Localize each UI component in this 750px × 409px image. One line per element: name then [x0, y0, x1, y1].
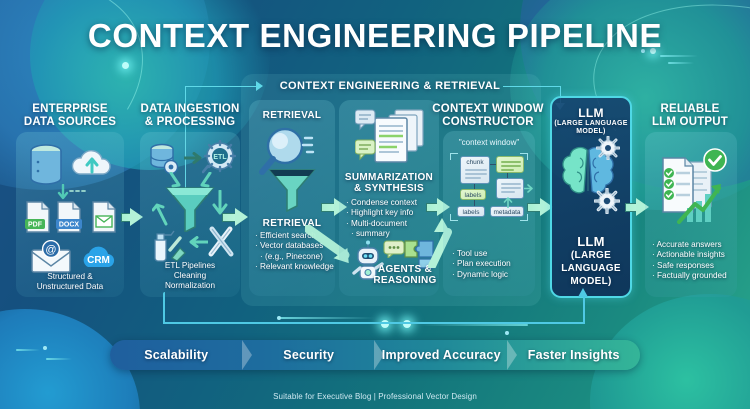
gear-icon: [594, 188, 620, 214]
deco-dot-3: [277, 316, 281, 320]
benefit-scalability[interactable]: Scalability: [110, 340, 243, 370]
connector-chunk-labels: [474, 184, 475, 189]
gear-icon: [596, 136, 620, 160]
sparkle-left: [122, 62, 129, 69]
node-green-summary: [496, 156, 524, 173]
benefit-improved-accuracy[interactable]: Improved Accuracy: [375, 340, 508, 370]
title-llm-top-sub2: MODEL): [552, 128, 630, 135]
bullets-reliable-llm-output: Accurate answers Actionable insights Saf…: [652, 240, 738, 282]
connector-out-arrow: [524, 184, 534, 193]
panel-context-window-constructor: "context window" chunk labels: [443, 131, 535, 296]
note-data-ingestion-processing: ETL Pipelines Cleaning Normalization: [140, 261, 240, 291]
bullets-context-window: Tool use Plan execution Dynamic logic: [452, 249, 538, 280]
header-data-ingestion-processing: DATA INGESTION & PROCESSING: [132, 103, 248, 129]
wrench-screwdriver-icon: [206, 224, 236, 258]
benefit-label: Scalability: [144, 348, 208, 362]
title-llm-inner-4: MODEL): [552, 276, 630, 287]
deco-line-3: [16, 349, 40, 351]
title-llm-top: LLM: [552, 106, 630, 120]
deco-dot-2: [43, 346, 47, 350]
svg-text:DOCX: DOCX: [59, 222, 80, 229]
connector-chunk-green: [490, 164, 496, 165]
panel-enterprise-data-sources: PDF DOCX @ CRM Structured &: [16, 132, 124, 297]
svg-text:@: @: [45, 244, 56, 256]
email-file-icon: [90, 200, 118, 234]
deco-line-6: [418, 324, 528, 326]
deco-line-5: [280, 317, 375, 319]
connector-green-doc: [507, 173, 508, 178]
group-label: CONTEXT ENGINEERING & RETRIEVAL: [275, 80, 505, 92]
node-assembled-doc: [496, 178, 524, 199]
pdf-file-icon: PDF: [24, 200, 52, 234]
note-enterprise-data-sources: Structured & Unstructured Data: [16, 272, 124, 292]
benefit-label: Faster Insights: [528, 348, 620, 362]
documents-stack-icon: [355, 106, 433, 172]
deco-line-4: [46, 358, 72, 360]
benefit-label: Security: [283, 348, 334, 362]
infographic-canvas: CONTEXT ENGINEERING PIPELINE CONTEXT ENG…: [0, 0, 750, 409]
node-chunk: chunk: [460, 156, 490, 184]
document-checklist-icon: [651, 146, 733, 234]
title-llm-top-sub1: (LARGE LANGUAGE: [552, 120, 630, 127]
cloud-upload-icon: [69, 144, 115, 184]
svg-text:PDF: PDF: [28, 222, 43, 229]
title-llm-inner-2: (LARGE: [552, 250, 630, 261]
docx-file-icon: DOCX: [55, 200, 87, 234]
svg-text:ETL: ETL: [213, 154, 227, 161]
header-context-window-constructor: CONTEXT WINDOW CONSTRUCTOR: [431, 103, 545, 129]
context-window-label: "context window": [443, 138, 535, 147]
clean-left-arrow-icon: [186, 236, 208, 248]
crm-cloud-icon: CRM: [78, 242, 120, 272]
benefit-label: Improved Accuracy: [382, 348, 501, 362]
etl-gear-icon: ETL: [202, 140, 236, 176]
page-title: CONTEXT ENGINEERING PIPELINE: [0, 17, 750, 55]
title-summarization: SUMMARIZATION & SYNTHESIS: [339, 172, 439, 194]
bracket-tl: [450, 153, 458, 160]
benefit-faster-insights[interactable]: Faster Insights: [508, 340, 641, 370]
flow-arrow-2: [222, 208, 248, 226]
panel-reliable-llm-output: Accurate answers Actionable insights Saf…: [645, 132, 737, 297]
title-retrieval-top: RETRIEVAL: [249, 110, 335, 121]
header-reliable-llm-output: RELIABLE LLM OUTPUT: [638, 103, 742, 129]
deco-dot-4: [505, 331, 509, 335]
connector-metadata-up-arrow: [503, 197, 513, 208]
deco-line-1: [660, 55, 698, 57]
chat-dots-icon: [383, 240, 405, 258]
database-icon: [26, 142, 66, 186]
benefit-security[interactable]: Security: [243, 340, 376, 370]
svg-text:CRM: CRM: [87, 255, 110, 266]
envelope-at-icon: @: [30, 240, 74, 274]
title-llm-inner: LLM: [552, 234, 630, 249]
header-enterprise-data-sources: ENTERPRISE DATA SOURCES: [12, 103, 128, 129]
feedback-loop-right: [583, 296, 585, 322]
benefits-bar: Scalability Security Improved Accuracy F…: [110, 340, 640, 370]
cleaning-spray-icon: [148, 228, 188, 262]
funnel-icon: [267, 166, 317, 212]
feedback-loop-line: [163, 322, 585, 324]
feedback-loop-arrow: [578, 288, 588, 297]
group-route-in-arrow: [256, 81, 263, 91]
title-llm-inner-3: LANGUAGE: [552, 263, 630, 274]
node-labels-green: labels: [460, 189, 486, 200]
deco-line-2: [668, 62, 694, 64]
funnel-up-arrow-icon: [152, 200, 170, 226]
footer-caption: Suitable for Executive Blog | Profession…: [0, 392, 750, 401]
panel-llm: LLM (LARGE LANGUAGE MODEL) LLM (LARGE LA…: [550, 96, 632, 298]
feedback-loop-left: [163, 292, 165, 322]
ingest-arrow-icon: [184, 152, 204, 164]
node-labels: labels: [457, 206, 485, 217]
database-gear-icon: [148, 142, 182, 176]
connector-labels-labels: [474, 200, 475, 206]
